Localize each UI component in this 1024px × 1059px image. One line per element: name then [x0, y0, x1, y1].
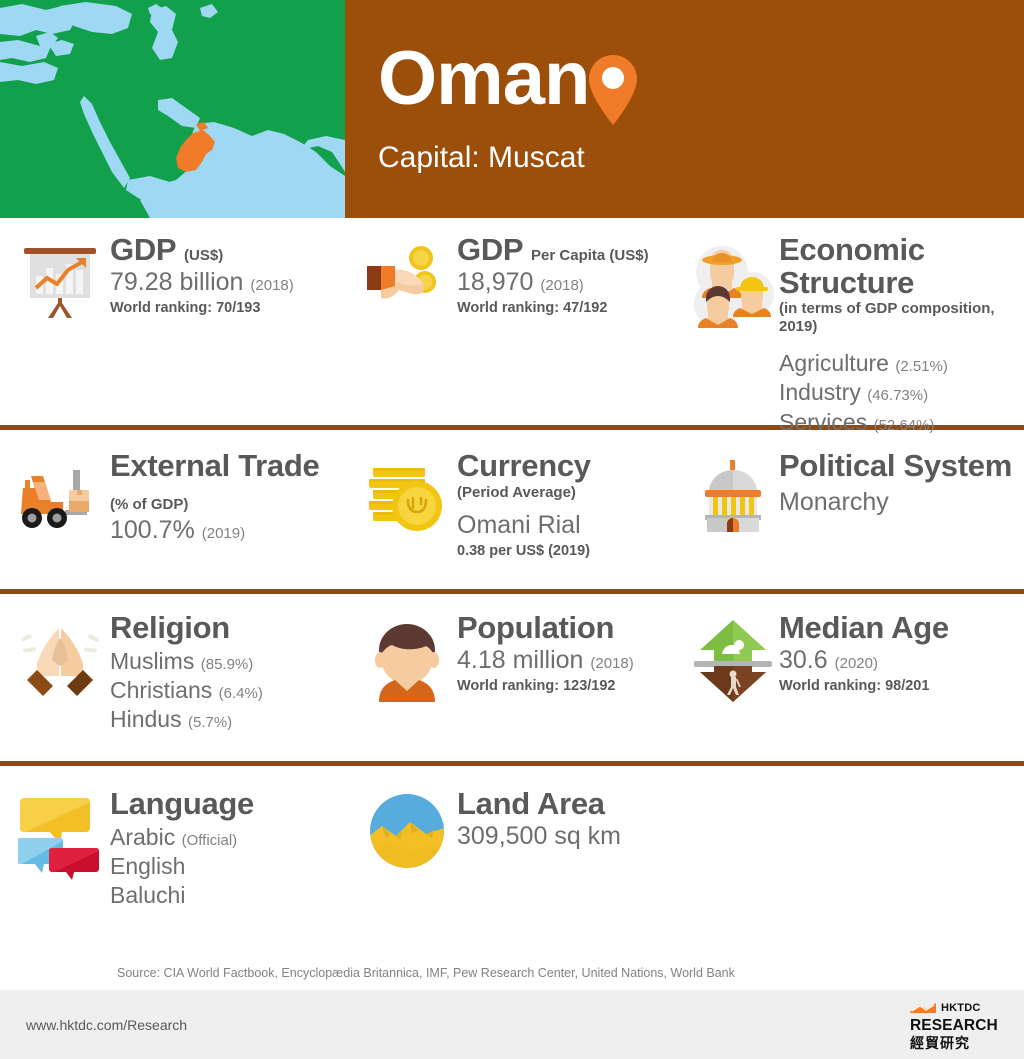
stat-trade-text: External Trade (% of GDP) 100.7% (2019) — [110, 450, 345, 546]
stat-language: Language Arabic (Official) English Baluc… — [0, 788, 345, 926]
coins-stack-icon — [357, 450, 457, 536]
stat-currency-text: Currency (Period Average) Omani Rial 0.3… — [457, 450, 675, 561]
stats-rows: GDP (US$) 79.28 billion (2018) World ran… — [0, 218, 1024, 926]
stat-population-value: 4.18 million (2018) — [457, 645, 675, 676]
stat-gdp-value: 79.28 billion (2018) — [110, 267, 345, 298]
stat-political-value: Monarchy — [779, 487, 1024, 518]
stat-gdp-per-capita: GDP Per Capita (US$) 18,970 (2018) World… — [345, 234, 675, 425]
stat-population: Population 4.18 million (2018) World ran… — [345, 612, 675, 761]
stat-religion-title: Religion — [110, 612, 345, 645]
workers-group-icon — [687, 234, 779, 330]
person-avatar-icon — [357, 612, 457, 704]
world-map-panel — [0, 0, 345, 218]
age-arrows-icon — [687, 612, 779, 704]
stat-median-age: Median Age 30.6 (2020) World ranking: 98… — [675, 612, 1024, 761]
stat-population-text: Population 4.18 million (2018) World ran… — [457, 612, 675, 696]
stat-median-age-rank: World ranking: 98/201 — [779, 677, 1024, 696]
stat-population-rank: World ranking: 123/192 — [457, 677, 675, 696]
list-item: English — [110, 852, 345, 881]
stat-econ-title: Economic Structure — [779, 234, 1024, 299]
stat-population-title: Population — [457, 612, 675, 645]
stat-currency: Currency (Period Average) Omani Rial 0.3… — [345, 450, 675, 589]
forklift-icon — [10, 450, 110, 530]
praying-hands-icon — [10, 612, 110, 700]
footer-bar: www.hktdc.com/Research HKTDC RESEARCH 經貿… — [0, 990, 1024, 1059]
stat-gdp-rank: World ranking: 70/193 — [110, 299, 345, 318]
stat-gdppc-rank: World ranking: 47/192 — [457, 299, 675, 318]
world-map-icon — [0, 0, 345, 218]
stat-religion: Religion Muslims (85.9%) Christians (6.4… — [0, 612, 345, 761]
stat-empty-cell — [675, 788, 1024, 926]
page-title: Oman — [378, 43, 589, 115]
list-item: Muslims (85.9%) — [110, 647, 345, 676]
list-item: Christians (6.4%) — [110, 676, 345, 705]
stat-gdppc-text: GDP Per Capita (US$) 18,970 (2018) World… — [457, 234, 675, 318]
logo-hktdc-text: HKTDC — [941, 1003, 981, 1014]
stat-external-trade: External Trade (% of GDP) 100.7% (2019) — [0, 450, 345, 589]
stat-gdppc-title: GDP Per Capita (US$) — [457, 234, 675, 267]
stat-econ-note: (in terms of GDP composition, 2019) — [779, 300, 1024, 336]
stat-land-area: Land Area 309,500 sq km — [345, 788, 675, 926]
hktdc-logo-icon[interactable]: HKTDC RESEARCH 經貿研究 — [910, 1002, 1000, 1051]
stats-row-4: Language Arabic (Official) English Baluc… — [0, 766, 1024, 926]
logo-research-text: RESEARCH — [910, 1017, 1000, 1035]
map-pin-icon — [585, 53, 641, 127]
stat-median-age-title: Median Age — [779, 612, 1024, 645]
list-item: Industry (46.73%) — [779, 378, 1024, 407]
stat-currency-rate: 0.38 per US$ (2019) — [457, 542, 675, 561]
speech-bubbles-icon — [10, 788, 110, 880]
stat-political-text: Political System Monarchy — [779, 450, 1024, 518]
stat-land-area-title: Land Area — [457, 788, 675, 821]
landscape-icon — [357, 788, 457, 870]
infographic-page: Oman Capital: Muscat — [0, 0, 1024, 1059]
stat-language-text: Language Arabic (Official) English Baluc… — [110, 788, 345, 910]
stat-gdp-title-sub: (US$) — [184, 247, 223, 264]
stat-land-area-value: 309,500 sq km — [457, 821, 675, 852]
logo-chinese-text: 經貿研究 — [910, 1035, 1000, 1051]
stat-currency-value: Omani Rial — [457, 510, 675, 541]
stat-median-age-text: Median Age 30.6 (2020) World ranking: 98… — [779, 612, 1024, 696]
stats-row-1: GDP (US$) 79.28 billion (2018) World ran… — [0, 218, 1024, 425]
stat-currency-title: Currency — [457, 450, 675, 483]
list-item: Baluchi — [110, 881, 345, 910]
capital-label: Capital: Muscat — [378, 141, 1024, 175]
stat-economic-structure: Economic Structure (in terms of GDP comp… — [675, 234, 1024, 425]
stat-gdp-title: GDP (US$) — [110, 234, 345, 267]
stat-political-title: Political System — [779, 450, 1024, 483]
stat-currency-note: (Period Average) — [457, 484, 675, 502]
stat-land-area-text: Land Area 309,500 sq km — [457, 788, 675, 852]
stat-trade-title: External Trade (% of GDP) — [110, 450, 345, 515]
stat-median-age-value: 30.6 (2020) — [779, 645, 1024, 676]
stat-political-system: Political System Monarchy — [675, 450, 1024, 589]
source-note: Source: CIA World Factbook, Encyclopædia… — [117, 966, 735, 980]
stat-econ-text: Economic Structure (in terms of GDP comp… — [779, 234, 1024, 437]
gdp-chart-icon — [10, 234, 110, 322]
stat-gdp: GDP (US$) 79.28 billion (2018) World ran… — [0, 234, 345, 425]
stat-gdppc-value: 18,970 (2018) — [457, 267, 675, 298]
list-item: Hindus (5.7%) — [110, 705, 345, 734]
hand-coins-icon — [357, 234, 457, 314]
stats-row-2: External Trade (% of GDP) 100.7% (2019) — [0, 430, 1024, 589]
stat-language-title: Language — [110, 788, 345, 821]
stat-religion-text: Religion Muslims (85.9%) Christians (6.4… — [110, 612, 345, 734]
header: Oman Capital: Muscat — [0, 0, 1024, 218]
list-item: Agriculture (2.51%) — [779, 349, 1024, 378]
list-item: Arabic (Official) — [110, 823, 345, 852]
stat-gdp-text: GDP (US$) 79.28 billion (2018) World ran… — [110, 234, 345, 318]
title-panel: Oman Capital: Muscat — [345, 0, 1024, 218]
country-row: Oman — [378, 43, 1024, 127]
stat-trade-value: 100.7% (2019) — [110, 515, 345, 546]
hktdc-mark-icon — [910, 1003, 938, 1014]
government-building-icon — [687, 450, 779, 534]
stats-row-3: Religion Muslims (85.9%) Christians (6.4… — [0, 594, 1024, 761]
footer-url[interactable]: www.hktdc.com/Research — [26, 1017, 187, 1033]
